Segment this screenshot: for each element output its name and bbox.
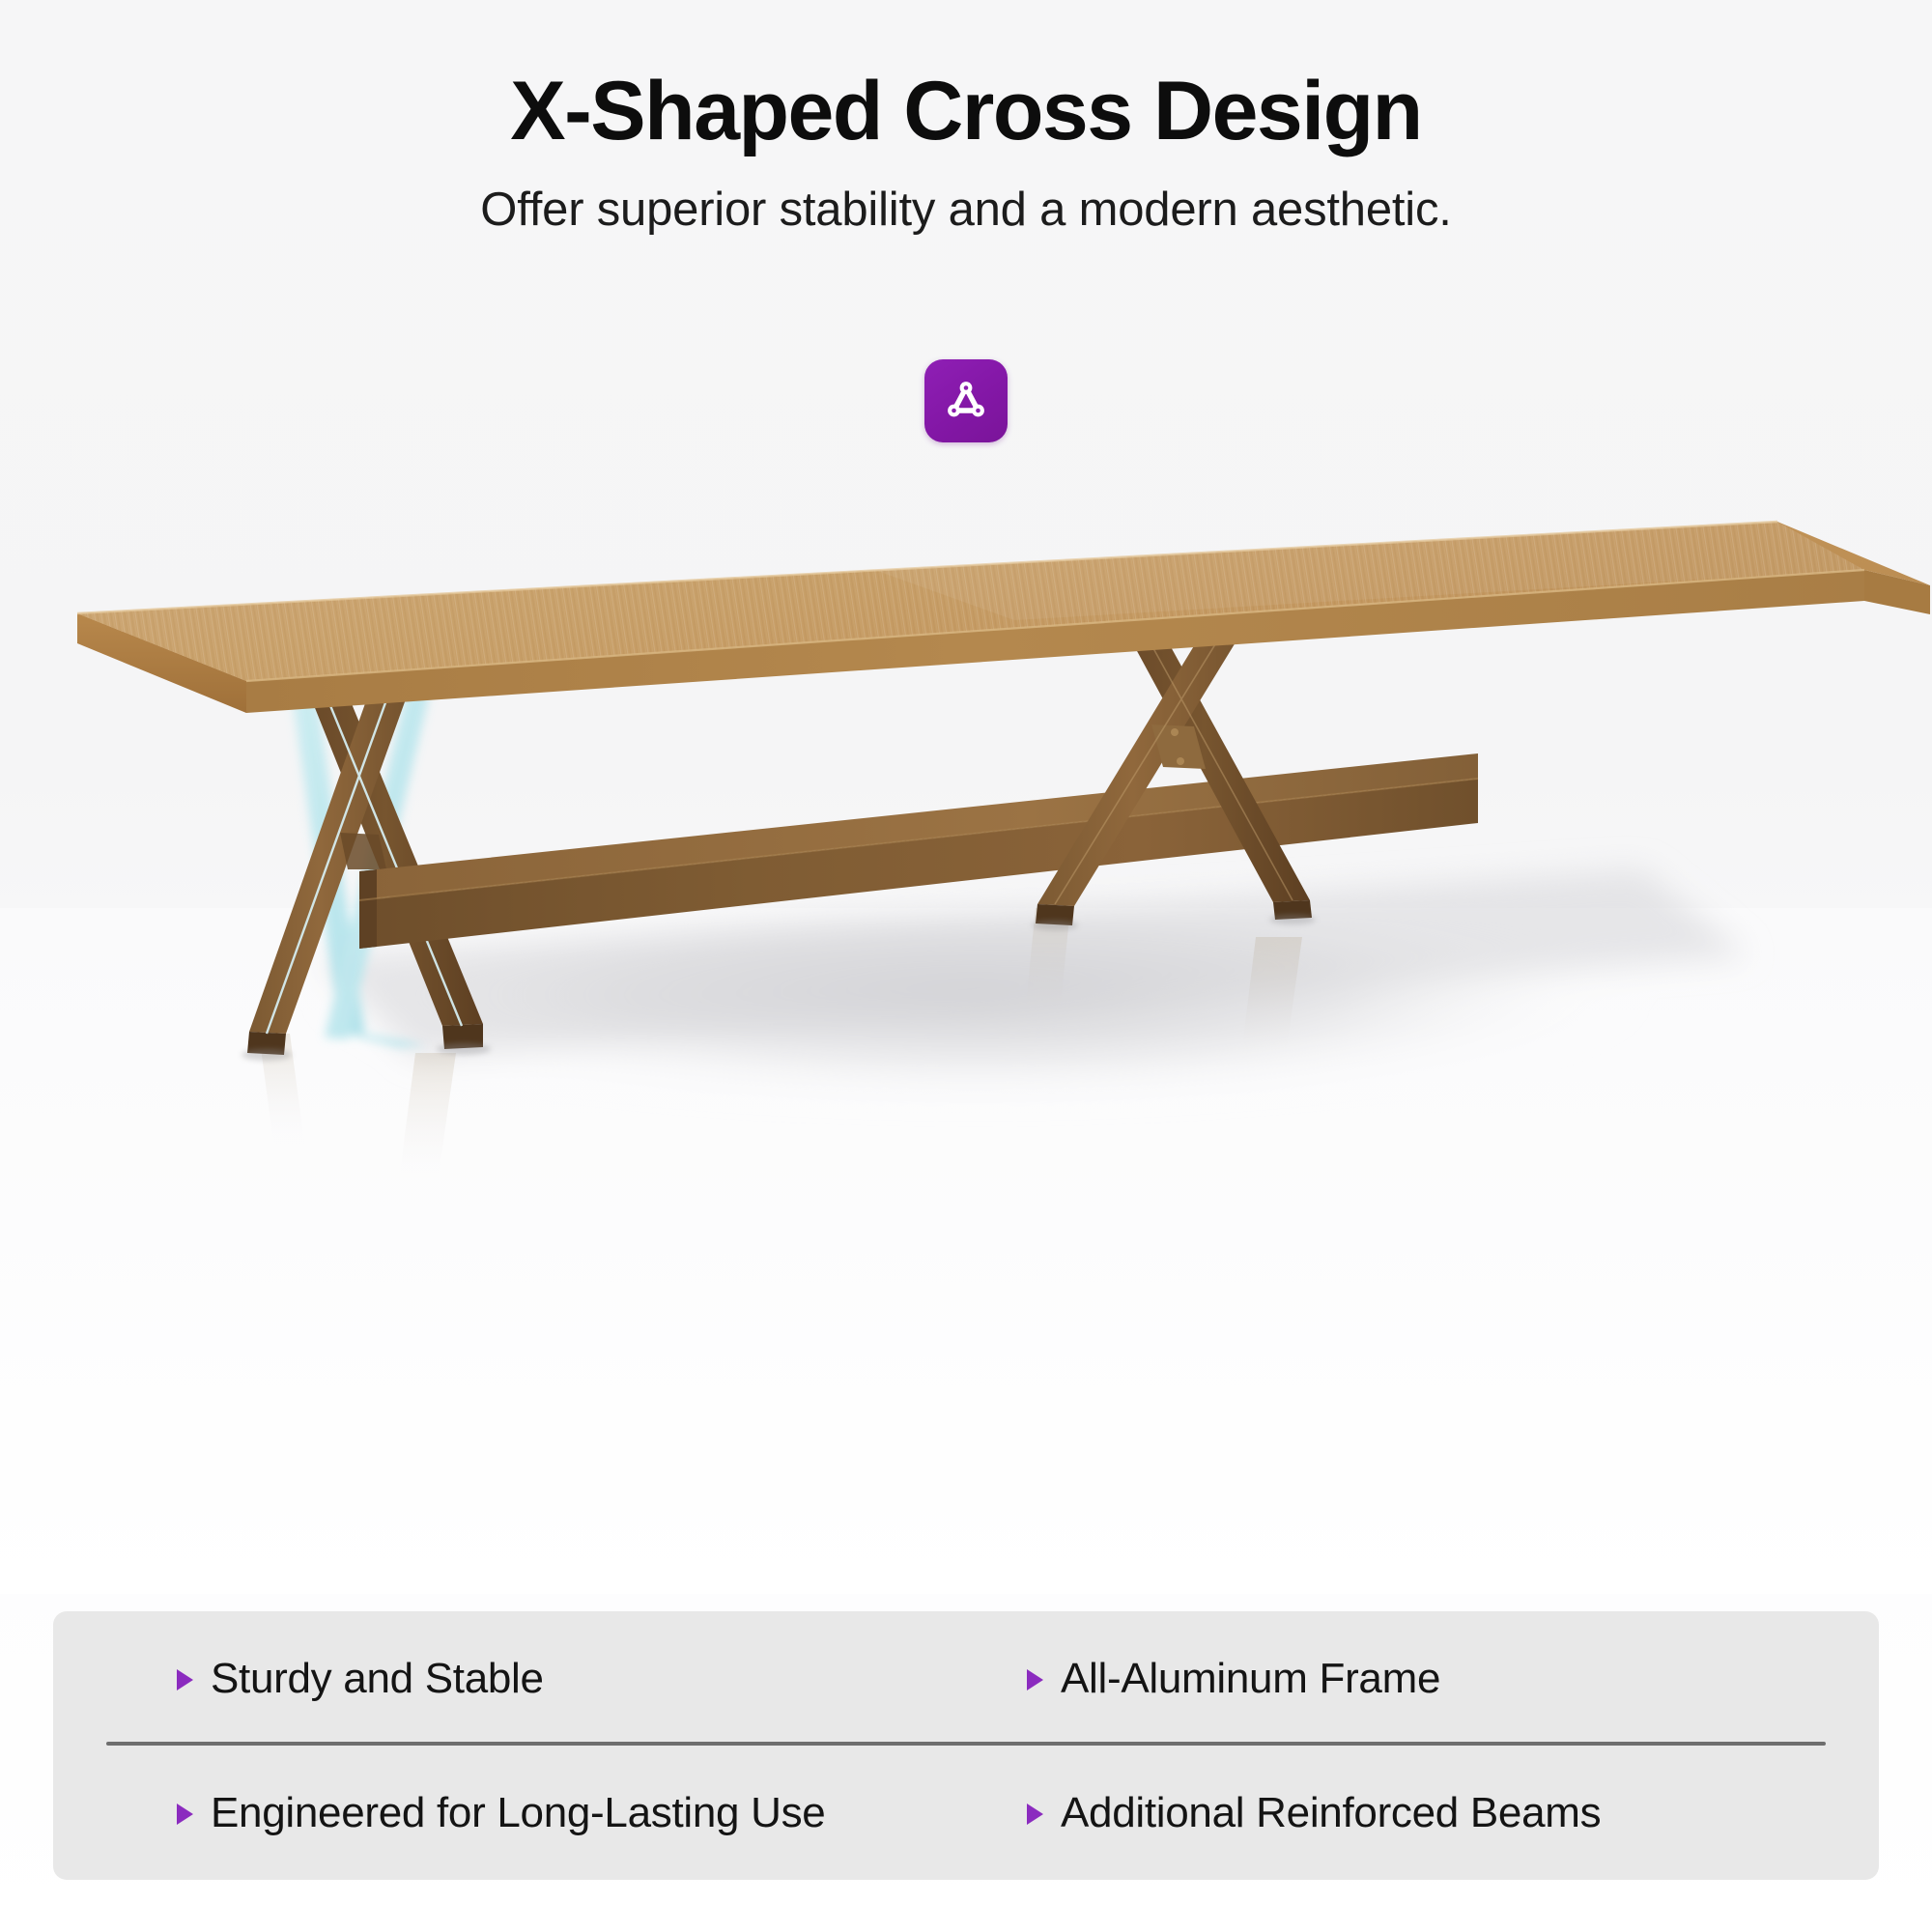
left-leg-cross-joint [340,833,386,869]
product-image-stage [0,454,1932,1594]
bullet-arrow-icon [1027,1669,1043,1690]
page-title: X-Shaped Cross Design [0,68,1932,155]
feature-row: Engineered for Long-Lasting Use Addition… [53,1746,1879,1880]
page-subtitle: Offer superior stability and a modern ae… [0,182,1932,239]
feature-item-engineered-for-long-lasting-use: Engineered for Long-Lasting Use [53,1789,952,1837]
feature-panel: Sturdy and Stable All-Aluminum Frame Eng… [53,1611,1879,1880]
triangle-network-icon [939,374,993,428]
feature-item-sturdy-and-stable: Sturdy and Stable [53,1655,952,1703]
tabletop [58,502,1930,724]
feature-item-additional-reinforced-beams: Additional Reinforced Beams [952,1789,1850,1837]
bullet-arrow-icon [1027,1804,1043,1825]
feature-label: Additional Reinforced Beams [1061,1789,1601,1837]
stretcher-beam-end [359,869,377,949]
triangle-network-badge [924,359,1008,442]
feature-row: Sturdy and Stable All-Aluminum Frame [53,1611,1879,1746]
feature-label: All-Aluminum Frame [1061,1655,1440,1703]
marketing-feature-page: X-Shaped Cross Design Offer superior sta… [0,0,1932,1932]
header-block: X-Shaped Cross Design Offer superior sta… [0,68,1932,239]
x-leg-dining-table-illustration [0,454,1932,1594]
feature-label: Engineered for Long-Lasting Use [211,1789,825,1837]
feature-item-all-aluminum-frame: All-Aluminum Frame [952,1655,1850,1703]
badge-container [0,359,1932,442]
bullet-arrow-icon [177,1669,193,1690]
bullet-arrow-icon [177,1804,193,1825]
feature-label: Sturdy and Stable [211,1655,544,1703]
